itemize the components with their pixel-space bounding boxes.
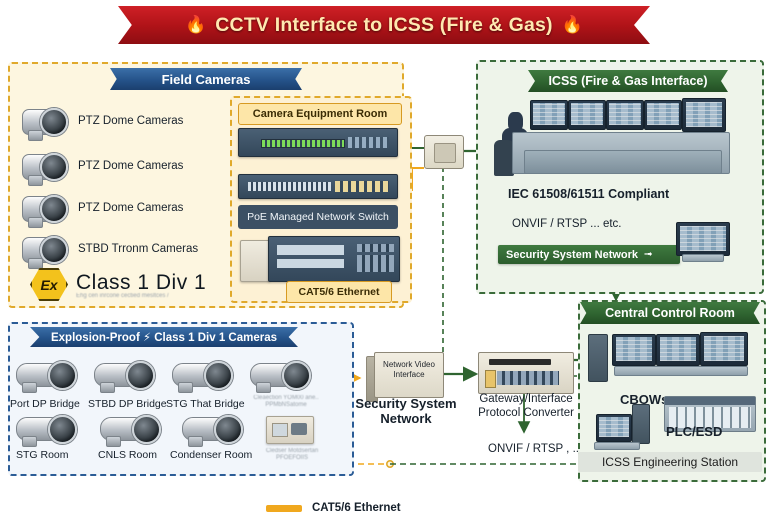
header-camera-equipment-room-label: Camera Equipment Room	[253, 108, 387, 120]
hazardous-area-certification: Ex Class 1 Div 1 Ehg cen inrcone cectied…	[30, 268, 206, 301]
plc-esd-label: PLC/ESD	[666, 424, 722, 439]
nvi-label-line2: Interface	[378, 370, 440, 380]
iec-compliance-label: IEC 61508/61511 Compliant	[508, 187, 669, 201]
legend-swatch-ethernet	[266, 505, 302, 512]
explosion-proof-camera-icon	[14, 412, 74, 446]
arrow-right-icon: ➟	[644, 249, 652, 260]
ssn-caption-line2: Network	[352, 411, 460, 426]
legend: CAT5/6 Ethernet	[266, 502, 401, 514]
encoder-unit	[268, 236, 400, 282]
explosion-proof-camera-icon	[170, 358, 230, 392]
security-system-network-label: Security System Network	[506, 249, 638, 261]
header-icss: ICSS (Fire & Gas Interface)	[528, 70, 728, 92]
xp-camera-label-7: Condenser Room	[170, 449, 252, 461]
xp-camera-label-6: CNLS Room	[98, 449, 157, 461]
header-camera-equipment-room: Camera Equipment Room	[238, 103, 402, 125]
security-system-network-bar: Security System Network ➟	[498, 245, 680, 264]
console-monitor-4	[644, 100, 682, 130]
header-central-control-room: Central Control Room	[580, 302, 760, 324]
console-monitor-2	[568, 100, 606, 130]
console-desk-front	[524, 150, 722, 174]
workstation-tower-icon	[588, 334, 608, 382]
header-icss-label: ICSS (Fire & Gas Interface)	[548, 74, 707, 88]
xp-camera-label-5: STG Room	[16, 449, 69, 461]
icss-engineering-station-bar: ICSS Engineering Station	[578, 452, 762, 472]
icss-client-stand	[682, 254, 724, 262]
cctv-camera-icon	[20, 106, 64, 140]
ex-badge-icon: Ex	[30, 268, 68, 301]
media-converter-icon	[266, 416, 314, 444]
patch-panel-unit	[238, 174, 398, 199]
camera-label-4: STBD Trronm Cameras	[78, 243, 198, 255]
xp-device-label-8: Cledser Motdsertan PFOEFOIIS	[252, 448, 332, 462]
explosion-proof-camera-icon	[248, 358, 308, 392]
security-system-network-caption: Security System Network	[352, 396, 460, 426]
poe-switch-label: PoE Managed Network Switch	[238, 205, 398, 229]
explosion-proof-camera-icon	[14, 358, 74, 392]
icss-protocols-label: ONVIF / RTSP ... etc.	[512, 218, 622, 230]
xp-camera-label-1: Port DP Bridge	[10, 398, 80, 410]
poe-switch-text: PoE Managed Network Switch	[247, 211, 389, 223]
nvr-rack-unit	[238, 128, 398, 157]
header-explosion-proof: Explosion-Proof ⚡ Class 1 Div 1 Cameras	[30, 327, 298, 347]
xp-camera-label-2: STBD DP Bridge	[88, 398, 167, 410]
diagram-canvas: 🔥 CCTV Interface to ICSS (Fire & Gas) 🔥	[0, 0, 768, 526]
legend-label-ethernet: CAT5/6 Ethernet	[312, 502, 401, 514]
engineering-station-monitor	[596, 414, 632, 442]
ssn-caption-line1: Security System	[352, 396, 460, 411]
header-central-control-room-label: Central Control Room	[605, 306, 735, 320]
cctv-camera-icon	[20, 193, 64, 227]
xp-camera-label-3: STG That Bridge	[166, 398, 245, 410]
console-monitor-1	[530, 100, 568, 130]
gateway-protocol-converter-box	[478, 352, 574, 394]
certification-title: Class 1 Div 1	[76, 271, 206, 295]
console-monitor-3	[606, 100, 644, 130]
cctv-camera-icon	[20, 151, 64, 185]
xp-camera-label-4: Cleaection YOM00 ane.. PPMbNSatome	[246, 395, 326, 409]
explosion-proof-camera-icon	[180, 412, 240, 446]
explosion-proof-camera-icon	[98, 412, 158, 446]
explosion-proof-camera-icon	[92, 358, 152, 392]
cable-tag-cat56-label: CAT5/6 Ethernet	[299, 286, 380, 298]
header-field-cameras-label: Field Cameras	[162, 72, 251, 87]
camera-label-1: PTZ Dome Cameras	[78, 115, 183, 127]
ccr-monitor-1	[612, 334, 656, 366]
header-explosion-proof-label: Explosion-Proof ⚡ Class 1 Div 1 Cameras	[51, 330, 277, 344]
engineering-station-tower-icon	[632, 404, 650, 444]
gateway-caption-line2: Protocol Converter	[468, 406, 584, 420]
certification-subtitle: Ehg cen inrcone cectied mesltces /	[76, 293, 206, 299]
nvi-label-line1: Network Video	[378, 360, 440, 370]
gateway-caption: Gateway/Interface Protocol Converter	[468, 392, 584, 420]
cable-tag-cat56: CAT5/6 Ethernet	[286, 281, 392, 303]
cctv-camera-icon	[20, 234, 64, 268]
gateway-caption-line1: Gateway/Interface	[468, 392, 584, 406]
camera-label-3: PTZ Dome Cameras	[78, 202, 183, 214]
ccr-monitor-2	[656, 334, 700, 366]
ccr-keyboard-icon	[614, 366, 748, 376]
ccr-monitor-3	[700, 332, 748, 366]
network-wall-jack-icon	[424, 135, 464, 169]
encoder-side-unit	[240, 240, 270, 282]
icss-engineering-station-label: ICSS Engineering Station	[602, 455, 738, 469]
camera-label-2: PTZ Dome Cameras	[78, 160, 183, 172]
icss-client-monitor	[676, 222, 730, 256]
network-video-interface-box: Network Video Interface	[366, 352, 442, 396]
operator-chair-icon	[494, 140, 514, 176]
header-field-cameras: Field Cameras	[110, 68, 302, 90]
engineering-station-keyboard	[594, 442, 640, 450]
console-monitor-5	[682, 98, 726, 132]
